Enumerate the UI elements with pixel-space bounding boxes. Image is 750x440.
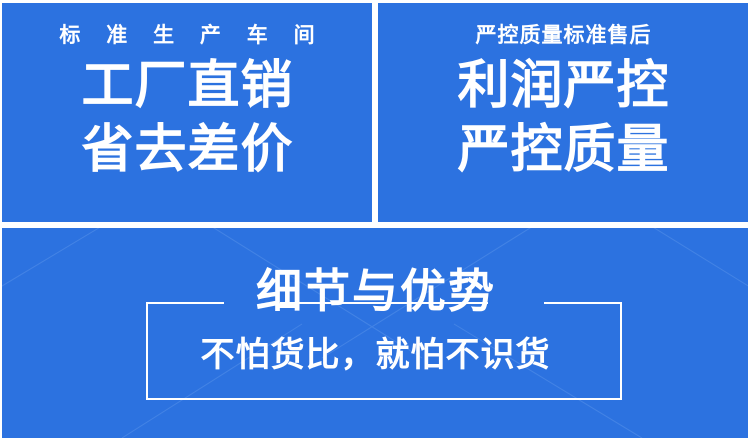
panel-details-advantages: 细节与优势 不怕货比，就怕不识货: [2, 228, 748, 438]
panel-factory-direct: 标 准 生 产 车 间 工厂直销 省去差价: [2, 3, 372, 222]
panel-quality-control-content: 严控质量标准售后 利润严控 严控质量: [378, 3, 748, 222]
panel-quality-control-eyebrow: 严控质量标准售后: [475, 25, 652, 46]
panel-factory-direct-eyebrow: 标 准 生 产 车 间: [49, 25, 324, 46]
panel-quality-control-headline-line2: 严控质量: [456, 120, 669, 180]
bottom-subtitle: 不怕货比，就怕不识货: [2, 338, 748, 372]
top-panel-row: 标 准 生 产 车 间 工厂直销 省去差价 严控质量标准售后 利润严控 严控质量: [2, 3, 748, 222]
panel-details-advantages-content: 细节与优势 不怕货比，就怕不识货: [2, 228, 748, 438]
panel-factory-direct-headline-line1: 工厂直销: [80, 56, 293, 116]
panel-quality-control-headline-line1: 利润严控: [456, 56, 669, 116]
panel-quality-control: 严控质量标准售后 利润严控 严控质量: [378, 3, 748, 222]
panel-factory-direct-headline-line2: 省去差价: [80, 120, 293, 180]
bottom-title: 细节与优势: [2, 268, 748, 314]
promo-banner: 标 准 生 产 车 间 工厂直销 省去差价 严控质量标准售后 利润严控 严控质量: [0, 0, 750, 440]
panel-factory-direct-content: 标 准 生 产 车 间 工厂直销 省去差价: [2, 3, 372, 222]
